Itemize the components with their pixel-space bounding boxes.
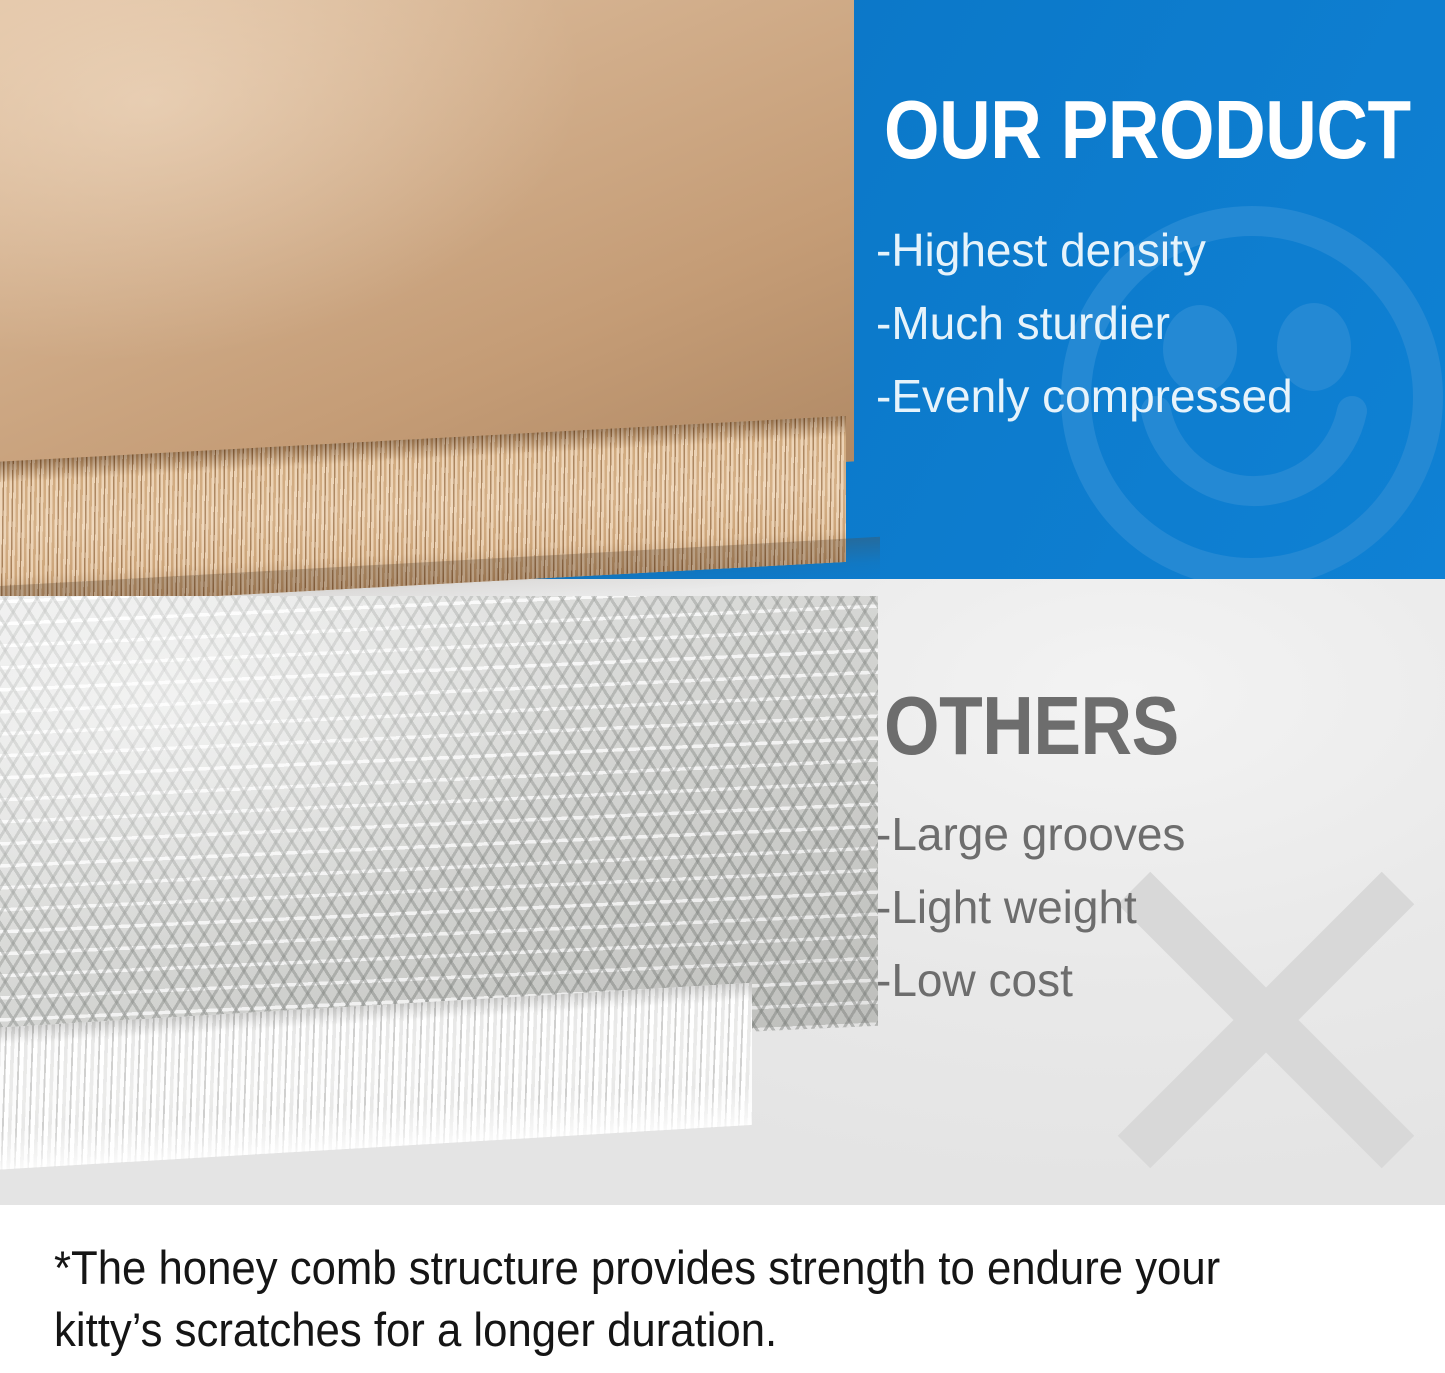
our-product-bullet-3: -Evenly compressed <box>876 360 1293 433</box>
footnote-text: *The honey comb structure provides stren… <box>54 1237 1310 1361</box>
others-bullet-2: -Light weight <box>876 871 1185 944</box>
others-bullet-list: -Large grooves -Light weight -Low cost <box>876 798 1185 1017</box>
infographic-page: OUR PRODUCT -Highest density -Much sturd… <box>0 0 1445 1373</box>
our-product-bullet-1: -Highest density <box>876 214 1293 287</box>
others-product-photo <box>0 596 878 1206</box>
our-product-bullet-2: -Much sturdier <box>876 287 1293 360</box>
our-product-photo <box>0 0 854 616</box>
our-product-heading: OUR PRODUCT <box>884 88 1411 172</box>
others-bullet-3: -Low cost <box>876 944 1185 1017</box>
others-heading: OTHERS <box>884 684 1179 768</box>
others-bullet-1: -Large grooves <box>876 798 1185 871</box>
our-product-bullet-list: -Highest density -Much sturdier -Evenly … <box>876 214 1293 433</box>
